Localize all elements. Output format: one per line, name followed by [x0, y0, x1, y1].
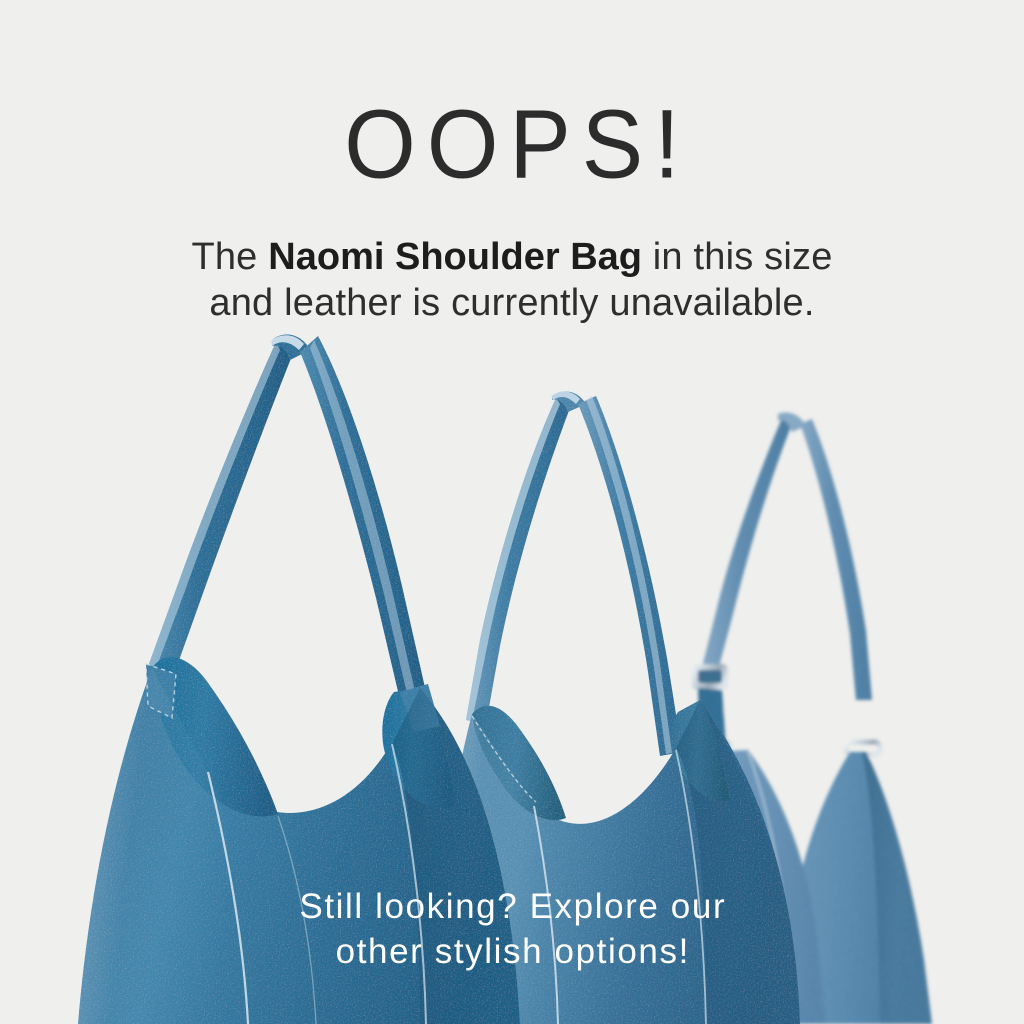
cta-line-2[interactable]: other stylish options! [0, 929, 1024, 974]
cta-container[interactable]: Still looking? Explore our other stylish… [0, 884, 1024, 974]
message-suffix: in this size [642, 236, 833, 278]
explore-options-cta[interactable]: Still looking? Explore our other stylish… [0, 884, 1024, 974]
product-name: Naomi Shoulder Bag [268, 236, 642, 278]
unavailable-message: The Naomi Shoulder Bag in this size and … [0, 234, 1024, 326]
error-page: OOPS! The Naomi Shoulder Bag in this siz… [0, 0, 1024, 1024]
message-prefix: The [191, 236, 268, 278]
cta-line-1[interactable]: Still looking? Explore our [0, 884, 1024, 929]
message-line-1: The Naomi Shoulder Bag in this size [0, 234, 1024, 280]
message-container: The Naomi Shoulder Bag in this size and … [0, 234, 1024, 326]
message-line-2: and leather is currently unavailable. [0, 280, 1024, 326]
page-title: OOPS! [0, 96, 1024, 194]
headline-container: OOPS! [0, 96, 1024, 188]
